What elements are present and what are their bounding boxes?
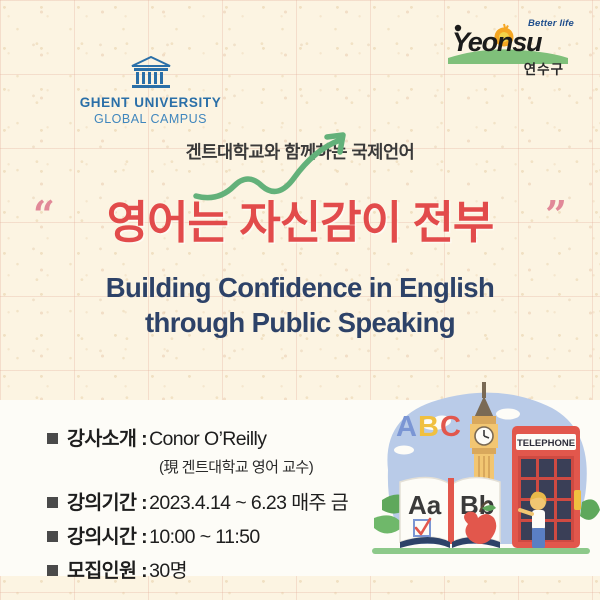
detail-label: 강사소개 : xyxy=(67,422,147,451)
book-left-page-label: Aa xyxy=(408,490,442,520)
leaf-icon xyxy=(580,499,600,520)
english-title-line-1: Building Confidence in English xyxy=(0,271,600,306)
letter-b-icon: B xyxy=(418,411,439,443)
telephone-sign-label: TELEPHONE xyxy=(517,438,575,449)
yeonsu-korean-name: 연수구 xyxy=(524,58,564,78)
growth-arrow-icon xyxy=(190,126,390,206)
detail-row: 모집인원 : 30명 xyxy=(47,554,407,583)
detail-value: 10:00 ~ 11:50 xyxy=(149,526,260,549)
detail-label: 모집인원 : xyxy=(67,554,147,583)
detail-note: (現 겐트대학교 영어 교수) xyxy=(159,456,407,477)
bullet-square-icon xyxy=(47,565,58,576)
detail-label: 강의기간 : xyxy=(67,486,147,515)
english-title-line-2: through Public Speaking xyxy=(0,306,600,341)
classical-building-icon xyxy=(130,56,172,90)
detail-value: 2023.4.14 ~ 6.23 매주 금 xyxy=(149,486,348,515)
detail-row: 강의기간 : 2023.4.14 ~ 6.23 매주 금 xyxy=(47,486,407,515)
detail-value: 30명 xyxy=(149,554,187,583)
telephone-booth-icon: TELEPHONE xyxy=(512,426,581,548)
detail-value: Conor O’Reilly xyxy=(149,428,266,451)
yeonsu-district-logo: Better life Yeonsu 연수구 xyxy=(442,14,578,76)
ghent-logo-name: GHENT UNIVERSITY xyxy=(63,95,238,112)
detail-row: 강사소개 : Conor O’Reilly xyxy=(47,422,407,451)
bullet-square-icon xyxy=(47,433,58,444)
bullet-square-icon xyxy=(47,497,58,508)
course-details-list: 강사소개 : Conor O’Reilly(現 겐트대학교 영어 교수)강의기간… xyxy=(47,422,407,588)
yeonsu-wordmark: Yeonsu xyxy=(452,27,541,58)
cloud-icon xyxy=(496,409,520,420)
bullet-square-icon xyxy=(47,531,58,542)
english-title: Building Confidence in English through P… xyxy=(0,271,600,341)
letter-c-icon: C xyxy=(440,411,461,443)
detail-row: 강의시간 : 10:00 ~ 11:50 xyxy=(47,520,407,549)
ghent-university-logo: GHENT UNIVERSITY GLOBAL CAMPUS xyxy=(63,56,238,128)
main-title: 영어는 자신감이 전부 xyxy=(0,196,600,249)
detail-label: 강의시간 : xyxy=(67,520,147,549)
